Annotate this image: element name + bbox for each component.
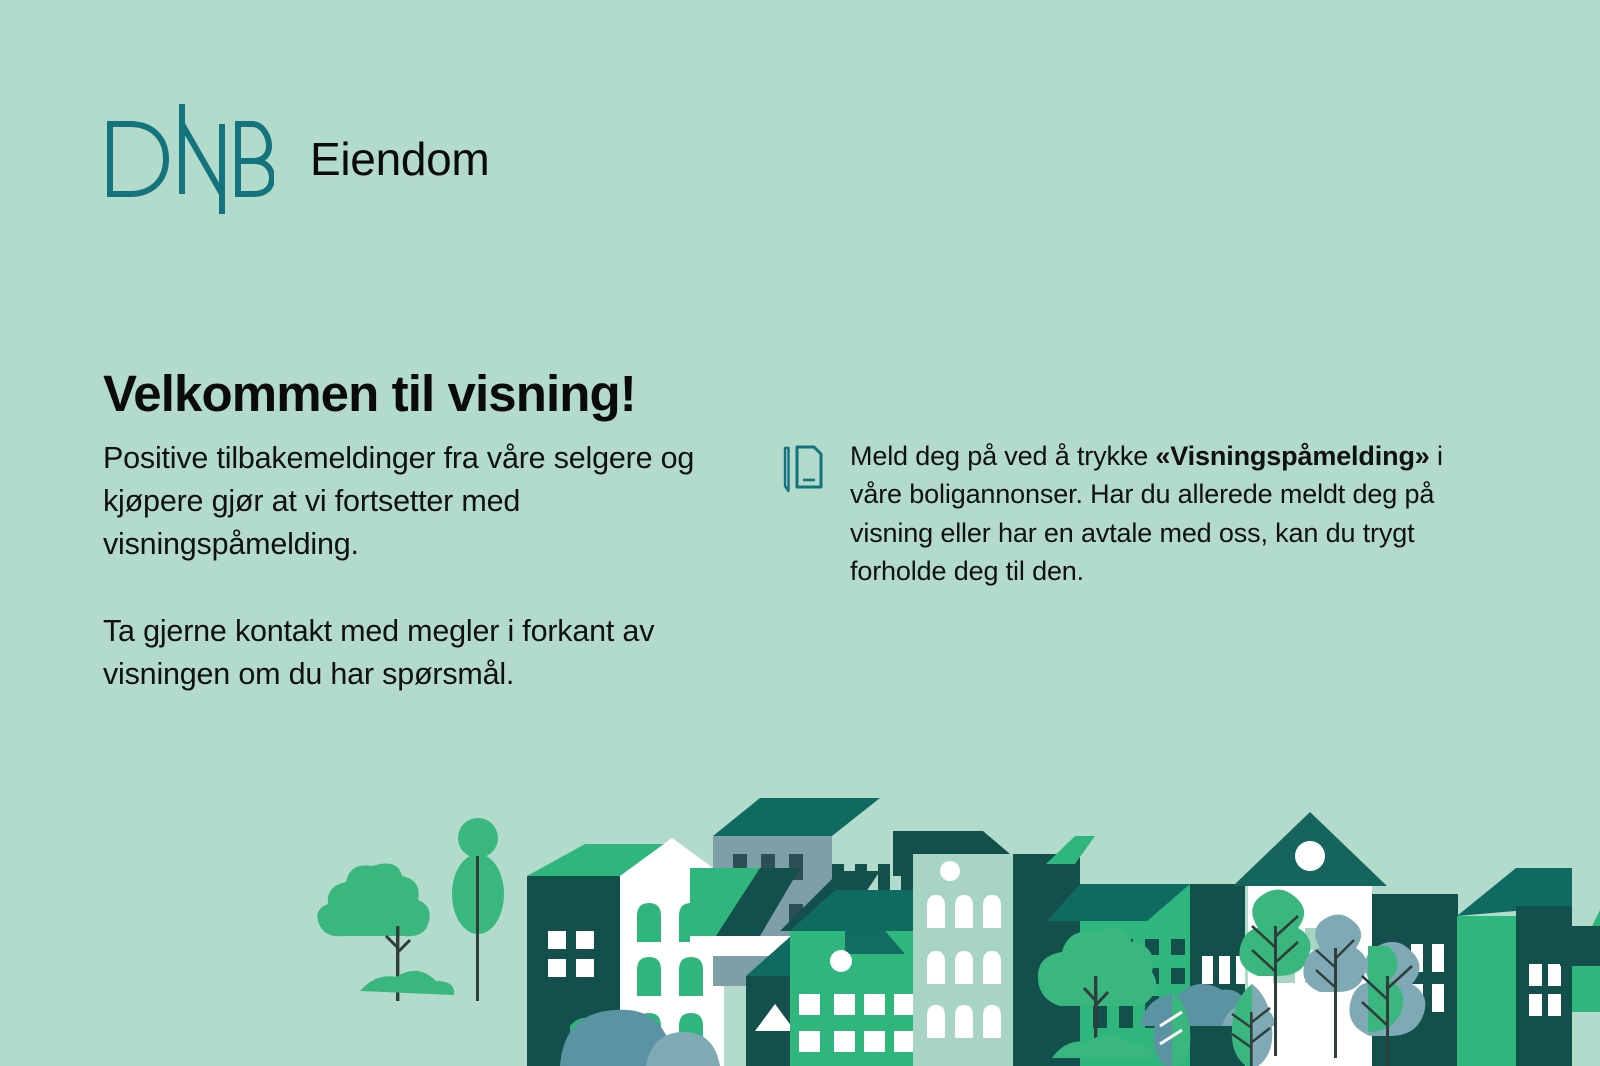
tree-bushy-left — [317, 864, 454, 1001]
brand-word: Eiendom — [310, 136, 489, 182]
tree-poplar — [452, 818, 504, 1001]
signup-instructions: Meld deg på ved å trykke «Visningspåmeld… — [850, 437, 1500, 590]
poster-page: Eiendom Velkommen til visning! Positive … — [0, 0, 1600, 1066]
house-far-right — [1457, 868, 1572, 1066]
signup-bold-phrase: «Visningspåmelding» — [1155, 441, 1429, 471]
intro-paragraph: Positive tilbakemeldinger fra våre selge… — [103, 437, 763, 566]
brand-header: Eiendom — [104, 104, 489, 214]
contact-paragraph: Ta gjerne kontakt med megler i forkant a… — [103, 610, 763, 696]
signup-text-before: Meld deg på ved å trykke — [850, 441, 1155, 471]
page-title: Velkommen til visning! — [103, 367, 636, 421]
cityscape-illustration — [0, 776, 1600, 1066]
right-text-column: Meld deg på ved å trykke «Visningspåmeld… — [780, 437, 1500, 590]
dnb-logo — [104, 104, 274, 214]
document-with-pen-icon — [780, 441, 824, 493]
left-text-column: Positive tilbakemeldinger fra våre selge… — [103, 437, 763, 696]
